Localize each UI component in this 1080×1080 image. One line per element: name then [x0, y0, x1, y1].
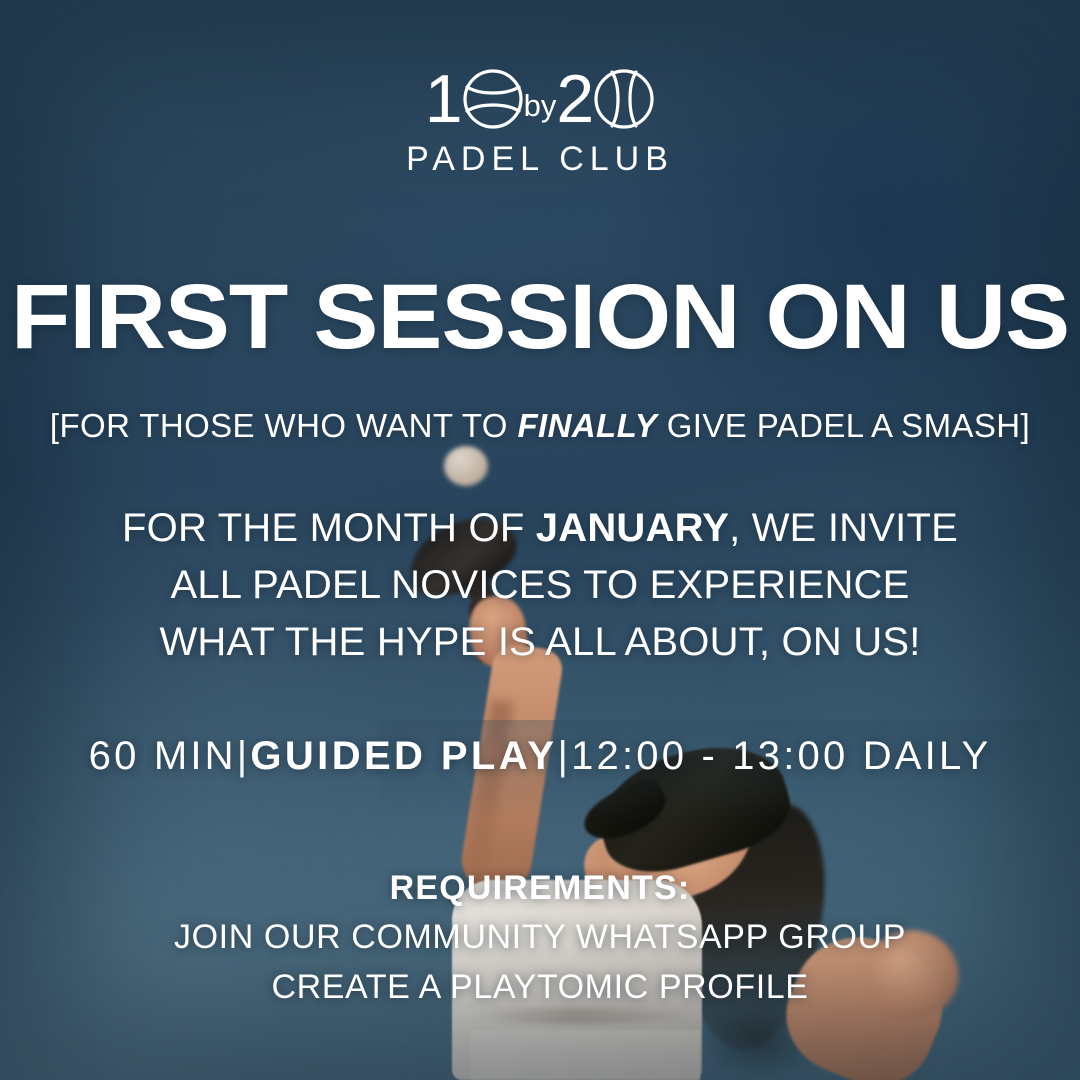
- logo-wordmark: PADEL CLUB: [0, 140, 1080, 179]
- session-type: GUIDED PLAY: [250, 734, 557, 778]
- logo-by-text: by: [524, 90, 557, 121]
- tagline-after: GIVE PADEL A SMASH]: [657, 407, 1030, 444]
- session-duration: 60 MIN: [89, 734, 237, 778]
- requirement-item-2: CREATE A PLAYTOMIC PROFILE: [0, 962, 1080, 1012]
- page-title: FIRST SESSION ON US: [0, 271, 1080, 363]
- offer-line-1-before: FOR THE MONTH OF: [122, 506, 536, 550]
- poster-content: 1 by 2 PADEL: [0, 0, 1080, 1080]
- brand-logo: 1 by 2 PADEL: [0, 62, 1080, 179]
- padel-club-promo-poster: 1 by 2 PADEL: [0, 0, 1080, 1080]
- offer-line-1: FOR THE MONTH OF JANUARY, WE INVITE: [0, 500, 1080, 557]
- tagline-emphasis: FINALLY: [517, 407, 657, 444]
- padel-ball-logo-right-icon: [593, 68, 655, 130]
- offer-line-1-after: , WE INVITE: [729, 506, 958, 550]
- offer-line-3: WHAT THE HYPE IS ALL ABOUT, ON US!: [0, 614, 1080, 671]
- padel-ball-logo-left-icon: [462, 68, 524, 130]
- requirement-item-1: JOIN OUR COMMUNITY WHATSAPP GROUP: [0, 912, 1080, 962]
- session-separator-2: |: [557, 734, 571, 778]
- requirements-title: REQUIREMENTS:: [0, 866, 1080, 912]
- offer-line-2: ALL PADEL NOVICES TO EXPERIENCE: [0, 557, 1080, 614]
- offer-month: JANUARY: [536, 506, 729, 550]
- logo-lockup: 1 by 2: [0, 62, 1080, 136]
- session-details: 60 MIN|GUIDED PLAY|12:00 - 13:00 DAILY: [0, 732, 1080, 780]
- requirements-block: REQUIREMENTS: JOIN OUR COMMUNITY WHATSAP…: [0, 866, 1080, 1013]
- logo-digit-two: 2: [556, 65, 593, 133]
- logo-digit-one: 1: [425, 65, 462, 133]
- session-time: 12:00 - 13:00 DAILY: [571, 734, 991, 778]
- tagline-before: [FOR THOSE WHO WANT TO: [50, 407, 518, 444]
- tagline: [FOR THOSE WHO WANT TO FINALLY GIVE PADE…: [0, 406, 1080, 446]
- offer-description: FOR THE MONTH OF JANUARY, WE INVITE ALL …: [0, 500, 1080, 670]
- session-separator-1: |: [237, 734, 251, 778]
